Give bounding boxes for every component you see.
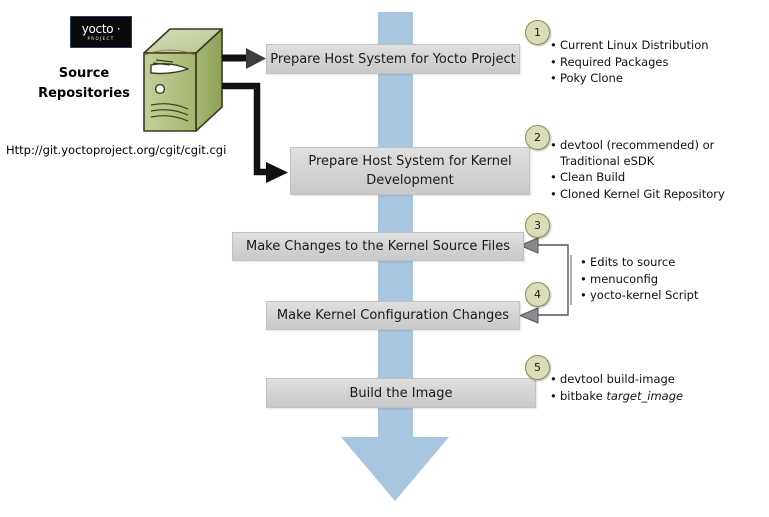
flow-spine-arrow-head: [341, 437, 449, 501]
bitbake-command-prefix: bitbake: [560, 389, 606, 403]
yocto-logo-subtitle: PROJECT: [87, 36, 114, 42]
step-1-note-item: Current Linux Distribution: [560, 38, 763, 54]
step-circle-4: 4: [525, 282, 550, 307]
step-2-note-item: devtool (recommended) or Traditional eSD…: [560, 138, 763, 169]
diagram-canvas: yocto · PROJECT Source Repositories Http…: [0, 0, 769, 517]
step-circle-1: 1: [525, 20, 550, 45]
process-box-build-image[interactable]: Build the Image: [266, 378, 536, 408]
server-tower-icon: [140, 25, 226, 135]
step-1-note-item: Poky Clone: [560, 71, 763, 87]
bitbake-target-image-arg: target_image: [606, 389, 683, 403]
step-2-note-item: Clean Build: [560, 170, 763, 186]
yocto-project-logo: yocto · PROJECT: [70, 16, 132, 48]
step-5-note-item: bitbake target_image: [560, 389, 763, 405]
step-circle-3: 3: [525, 213, 550, 238]
shared-note-item: menuconfig: [590, 272, 763, 288]
step-5-note-item: devtool build-image: [560, 372, 763, 388]
step-circle-5: 5: [525, 355, 550, 380]
shared-note-item: yocto-kernel Script: [590, 288, 763, 304]
step-2-notes: devtool (recommended) or Traditional eSD…: [548, 138, 763, 203]
source-repositories-label: Source Repositories: [24, 64, 144, 104]
step-1-note-item: Required Packages: [560, 55, 763, 71]
steps-3-4-shared-notes: Edits to source menuconfig yocto-kernel …: [578, 255, 763, 305]
source-label-line-2: Repositories: [24, 84, 144, 104]
step-1-notes: Current Linux Distribution Required Pack…: [548, 38, 763, 88]
process-box-prepare-host-yocto[interactable]: Prepare Host System for Yocto Project: [266, 44, 520, 74]
shared-note-item: Edits to source: [590, 255, 763, 271]
process-box-make-kernel-source-changes[interactable]: Make Changes to the Kernel Source Files: [232, 232, 524, 261]
step-2-note-item: Cloned Kernel Git Repository: [560, 187, 763, 203]
source-label-line-1: Source: [24, 64, 144, 84]
yocto-logo-wordmark: yocto ·: [82, 23, 121, 35]
process-box-prepare-host-kernel[interactable]: Prepare Host System for Kernel Developme…: [290, 147, 530, 195]
flow-spine-arrow-shaft: [378, 12, 413, 437]
step-5-notes: devtool build-image bitbake target_image: [548, 372, 763, 405]
source-repository-url: Http://git.yoctoproject.org/cgit/cgit.cg…: [6, 143, 226, 157]
process-box-make-kernel-config-changes[interactable]: Make Kernel Configuration Changes: [266, 301, 520, 330]
step-circle-2: 2: [525, 125, 550, 150]
